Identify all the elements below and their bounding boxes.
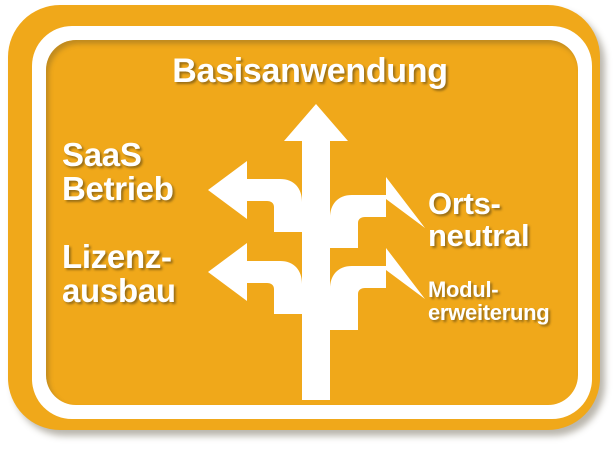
label-saas-betrieb: SaaS Betrieb bbox=[62, 138, 227, 205]
diagram-canvas: Basisanwendung SaaS Betrieb Lizenz- ausb… bbox=[0, 0, 613, 450]
label-basisanwendung: Basisanwendung bbox=[120, 54, 500, 89]
label-modul-erweiterung: Modul- erweiterung bbox=[428, 278, 603, 325]
label-orts-neutral: Orts- neutral bbox=[428, 188, 593, 251]
label-lizenz-ausbau: Lizenz- ausbau bbox=[62, 240, 237, 307]
